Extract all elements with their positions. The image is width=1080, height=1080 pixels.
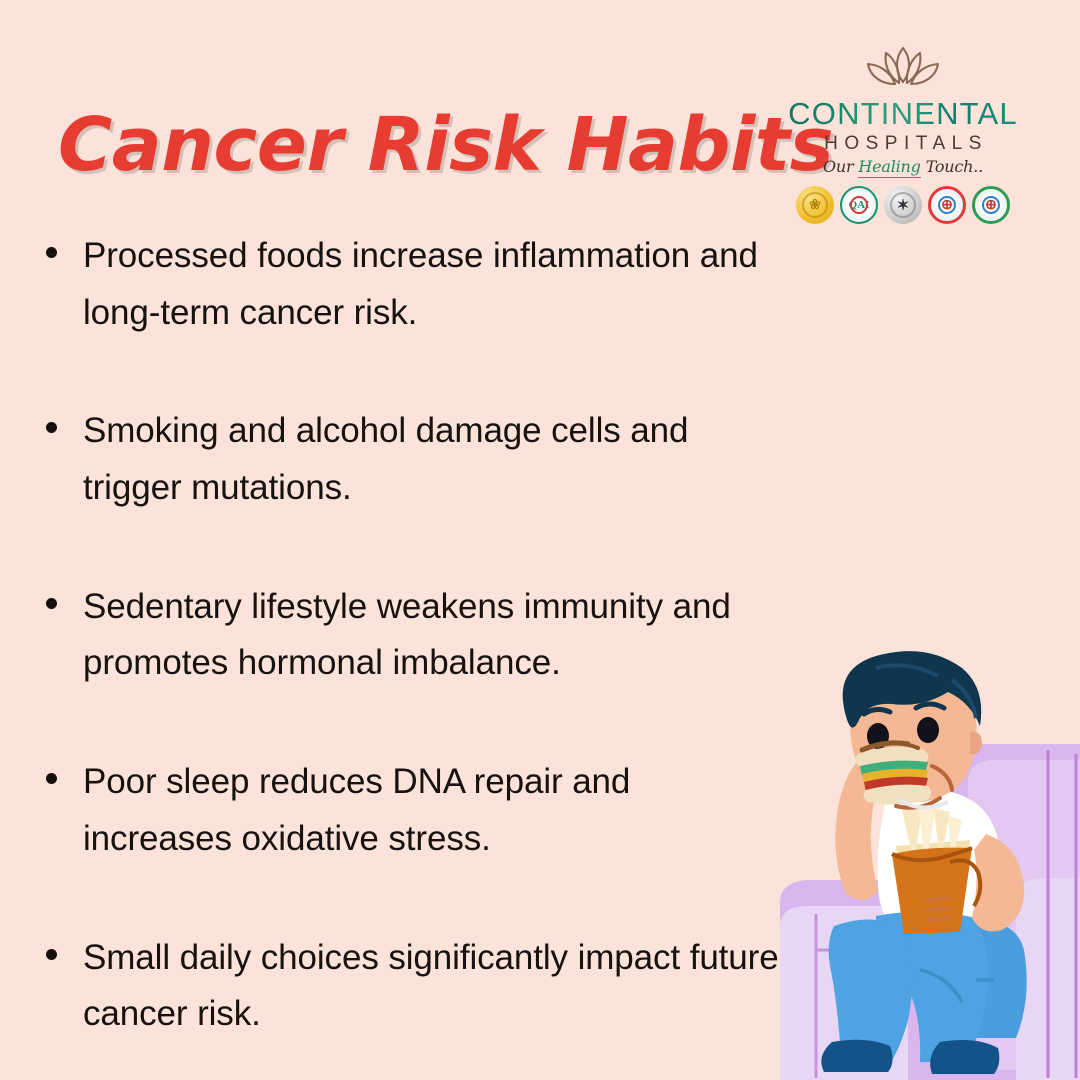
list-item: Small daily choices significantly impact… [46,930,782,1043]
accreditation-badges: ❀ QAI ✶ ⊕ ⊕ [778,186,1028,224]
list-item-text: Sedentary lifestyle weakens immunity and… [83,579,782,692]
lotus-icon [837,42,969,96]
list-item-text: Processed foods increase inflammation an… [83,228,782,341]
bullet-dot-icon [46,247,57,258]
nabh-red-badge: ⊕ [928,186,966,224]
gold-medal-badge-glyph: ❀ [796,186,834,224]
bullet-dot-icon [46,949,57,960]
silver-star-badge: ✶ [884,186,922,224]
shoe-right [930,1040,999,1074]
burger [856,743,931,805]
logo-tagline: Our Healing Touch.. [778,159,1028,175]
nabl-green-badge: ⊕ [972,186,1010,224]
page-title: Cancer Risk Habits [58,102,833,188]
boy-eating-fast-food-on-couch-illustration [780,650,1080,1080]
bullet-dot-icon [46,598,57,609]
list-item-text: Smoking and alcohol damage cells and tri… [83,403,782,516]
tagline-suffix: Touch.. [921,157,983,176]
list-item-text: Poor sleep reduces DNA repair and increa… [83,754,782,867]
qai-accreditation-badge: QAI [840,186,878,224]
qai-accreditation-badge-glyph: QAI [842,188,876,222]
continental-hospitals-logo: CONTINENTAL HOSPITALS Our Healing Touch.… [778,42,1028,224]
tagline-highlight: Healing [858,157,920,178]
logo-subtitle: HOSPITALS [784,134,1028,153]
illustration-svg [780,650,1080,1080]
list-item-text: Small daily choices significantly impact… [83,930,782,1043]
gold-medal-badge: ❀ [796,186,834,224]
list-item: Poor sleep reduces DNA repair and increa… [46,754,782,867]
risk-habits-list: Processed foods increase inflammation an… [46,228,782,1043]
nabl-green-badge-glyph: ⊕ [975,189,1007,221]
eye-right [917,717,939,743]
list-item: Sedentary lifestyle weakens immunity and… [46,579,782,692]
nabh-red-badge-glyph: ⊕ [931,189,963,221]
bullet-dot-icon [46,422,57,433]
poster-canvas: CONTINENTAL HOSPITALS Our Healing Touch.… [0,0,1080,1080]
logo-name: CONTINENTAL [778,98,1028,129]
tagline-prefix: Our [823,157,858,176]
list-item: Smoking and alcohol damage cells and tri… [46,403,782,516]
silver-star-badge-glyph: ✶ [884,186,922,224]
bullet-dot-icon [46,773,57,784]
shoe-left [821,1040,892,1072]
list-item: Processed foods increase inflammation an… [46,228,782,341]
